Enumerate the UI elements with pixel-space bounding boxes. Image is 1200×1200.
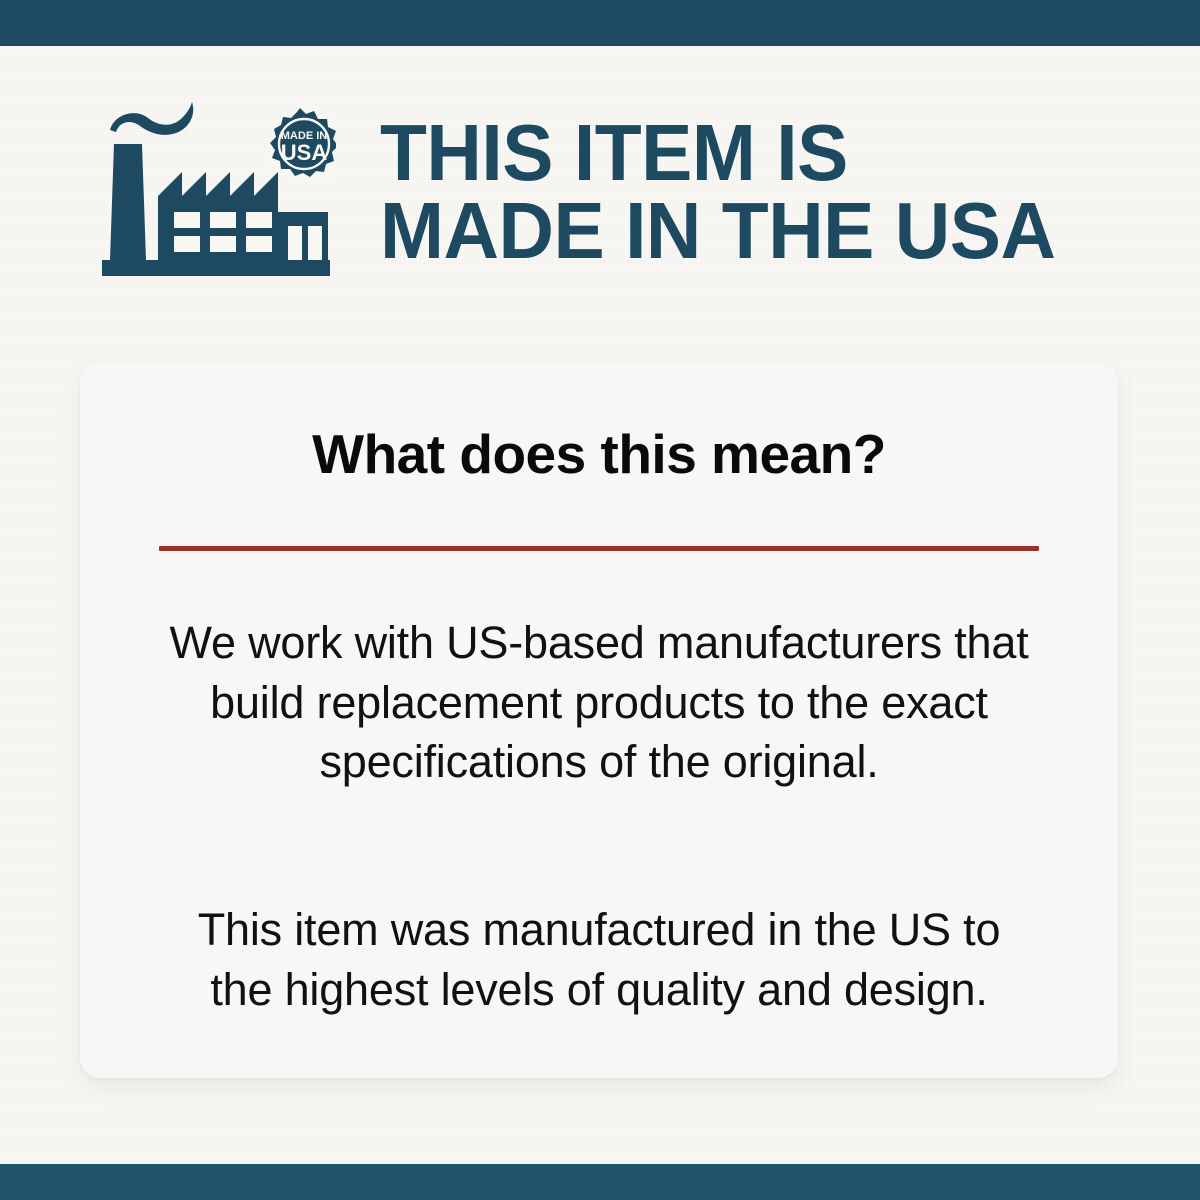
info-card: What does this mean? We work with US-bas…	[80, 362, 1118, 1078]
card-heading: What does this mean?	[152, 426, 1046, 484]
bottom-accent-bar	[0, 1164, 1200, 1200]
title-line-2: MADE IN THE USA	[380, 192, 1113, 270]
heading-divider	[159, 546, 1039, 551]
header: MADE IN USA THIS ITEM IS MADE IN THE USA	[96, 96, 1144, 286]
badge-line2: USA	[281, 140, 328, 165]
factory-icon: MADE IN USA	[96, 100, 336, 282]
card-paragraph-1: We work with US-based manufacturers that…	[164, 613, 1034, 793]
top-accent-bar	[0, 0, 1200, 46]
card-paragraph-2: This item was manufactured in the US to …	[164, 900, 1034, 1020]
page-title: THIS ITEM IS MADE IN THE USA	[380, 112, 1144, 271]
title-line-1: THIS ITEM IS	[380, 114, 1113, 192]
